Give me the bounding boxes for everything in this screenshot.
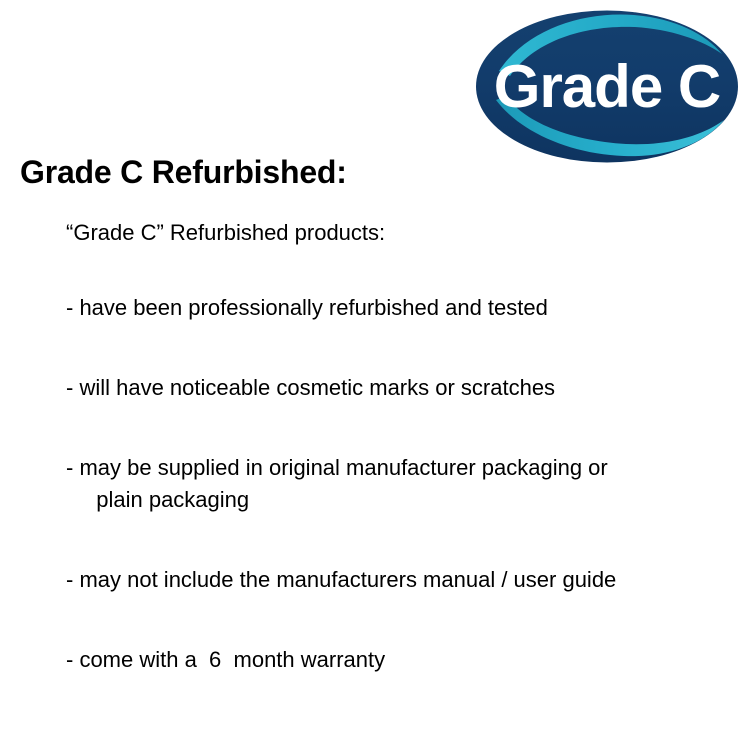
list-item: - have been professionally refurbished a… <box>66 292 738 324</box>
list-item: - will have noticeable cosmetic marks or… <box>66 372 738 404</box>
page-title: Grade C Refurbished: <box>20 154 347 191</box>
list-item: - come with a 6 month warranty <box>66 644 738 676</box>
content-body: “Grade C” Refurbished products: - have b… <box>66 218 738 676</box>
intro-line: “Grade C” Refurbished products: <box>66 218 738 248</box>
list-item: - may be supplied in original manufactur… <box>66 452 738 516</box>
logo-wordmark: Grade C <box>494 53 720 120</box>
grade-c-logo: Grade C <box>474 8 740 165</box>
list-item: - may not include the manufacturers manu… <box>66 564 738 596</box>
condition-bullet-list: - have been professionally refurbished a… <box>66 292 738 676</box>
